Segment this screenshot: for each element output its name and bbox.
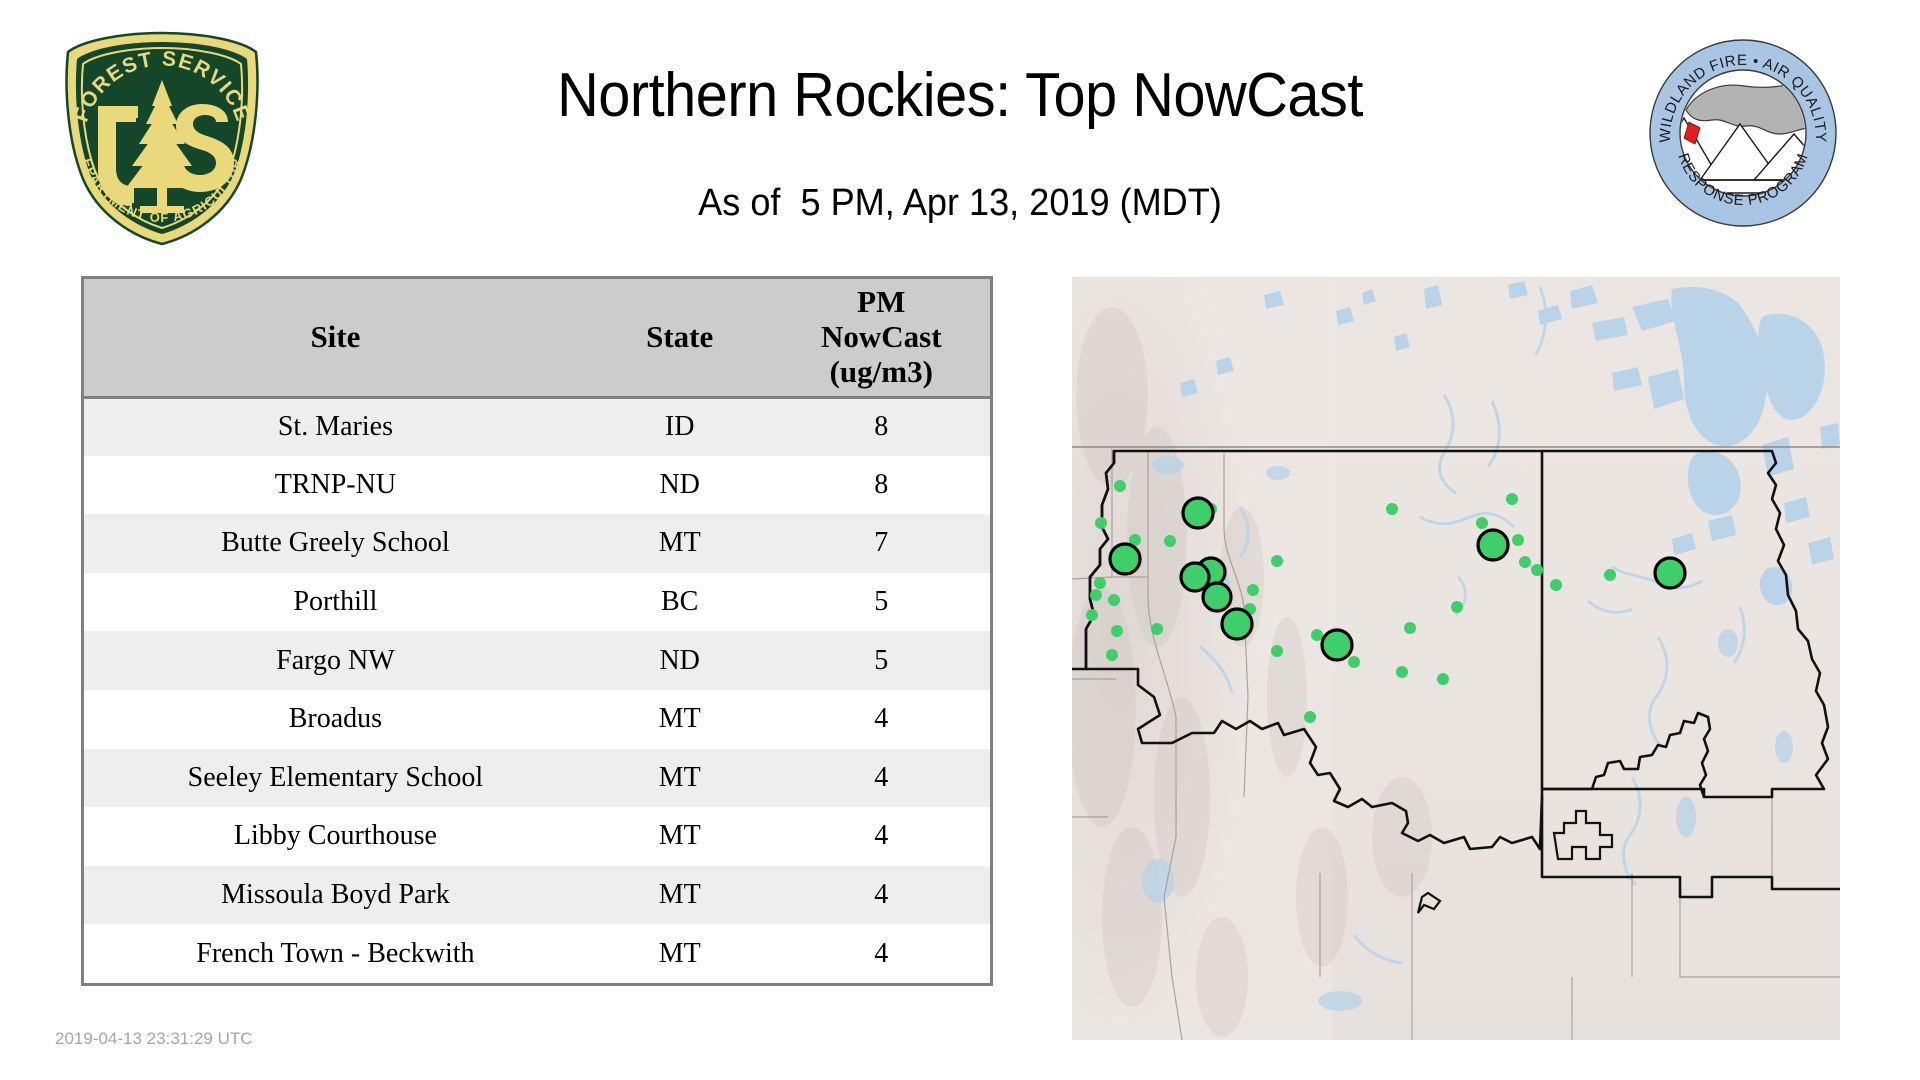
monitor-marker-small[interactable]	[1348, 656, 1360, 668]
monitor-marker-small[interactable]	[1396, 666, 1408, 678]
monitor-marker-small[interactable]	[1111, 625, 1123, 637]
table-header-row: Site State PM NowCast (ug/m3)	[84, 279, 990, 397]
monitor-marker-large[interactable]	[1203, 583, 1231, 611]
cell-state: ND	[587, 456, 773, 515]
monitor-marker-small[interactable]	[1108, 594, 1120, 606]
monitor-marker-small[interactable]	[1095, 517, 1107, 529]
pm-header-line-3: (ug/m3)	[779, 355, 984, 390]
table-row[interactable]: French Town - Beckwith MT 4	[84, 924, 990, 983]
nowcast-table-body: St. Maries ID 8 TRNP-NU ND 8 Butte Greel…	[84, 397, 990, 983]
generation-timestamp: 2019-04-13 23:31:29 UTC	[55, 1029, 253, 1049]
monitor-marker-large[interactable]	[1322, 630, 1352, 660]
monitor-marker-small[interactable]	[1164, 535, 1176, 547]
page-subtitle: As of 5 PM, Apr 13, 2019 (MDT)	[390, 182, 1530, 225]
column-header-pm-nowcast[interactable]: PM NowCast (ug/m3)	[773, 279, 990, 397]
monitor-marker-small[interactable]	[1604, 569, 1616, 581]
monitor-marker-small[interactable]	[1114, 480, 1126, 492]
monitor-marker-large[interactable]	[1181, 563, 1209, 591]
nowcast-table-container: Site State PM NowCast (ug/m3) St. Maries…	[81, 276, 993, 986]
monitor-marker-small[interactable]	[1090, 589, 1102, 601]
monitor-marker-small[interactable]	[1271, 645, 1283, 657]
cell-site: Seeley Elementary School	[84, 749, 587, 808]
cell-state: ID	[587, 397, 773, 456]
cell-pm: 4	[773, 749, 990, 808]
monitor-marker-small[interactable]	[1512, 534, 1524, 546]
cell-site: Porthill	[84, 573, 587, 632]
table-row[interactable]: Porthill BC 5	[84, 573, 990, 632]
column-header-state[interactable]: State	[587, 279, 773, 397]
table-row[interactable]: St. Maries ID 8	[84, 397, 990, 456]
monitor-marker-small[interactable]	[1531, 564, 1543, 576]
monitor-marker-large[interactable]	[1110, 544, 1140, 574]
cell-state: BC	[587, 573, 773, 632]
cell-pm: 7	[773, 514, 990, 573]
column-header-site[interactable]: Site	[84, 279, 587, 397]
cell-state: MT	[587, 690, 773, 749]
monitor-marker-small[interactable]	[1437, 673, 1449, 685]
cell-state: MT	[587, 749, 773, 808]
table-row[interactable]: TRNP-NU ND 8	[84, 456, 990, 515]
monitor-marker-small[interactable]	[1386, 503, 1398, 515]
monitor-marker-large[interactable]	[1478, 530, 1508, 560]
monitor-marker-large[interactable]	[1183, 498, 1213, 528]
cell-pm: 4	[773, 807, 990, 866]
nowcast-table: Site State PM NowCast (ug/m3) St. Maries…	[84, 279, 990, 983]
monitor-marker-small[interactable]	[1304, 711, 1316, 723]
cell-pm: 4	[773, 924, 990, 983]
monitor-marker-small[interactable]	[1311, 629, 1323, 641]
monitor-marker-small[interactable]	[1476, 517, 1488, 529]
monitor-marker-small[interactable]	[1404, 622, 1416, 634]
table-row[interactable]: Fargo NW ND 5	[84, 631, 990, 690]
cell-state: ND	[587, 631, 773, 690]
monitor-marker-small[interactable]	[1271, 555, 1283, 567]
table-row[interactable]: Broadus MT 4	[84, 690, 990, 749]
monitor-marker-small[interactable]	[1550, 579, 1562, 591]
cell-site: Fargo NW	[84, 631, 587, 690]
monitor-marker-large[interactable]	[1655, 558, 1685, 588]
cell-pm: 5	[773, 631, 990, 690]
cell-state: MT	[587, 807, 773, 866]
cell-pm: 4	[773, 690, 990, 749]
page-title: Northern Rockies: Top NowCast	[402, 60, 1518, 131]
cell-state: MT	[587, 866, 773, 925]
cell-site: French Town - Beckwith	[84, 924, 587, 983]
cell-site: St. Maries	[84, 397, 587, 456]
cell-pm: 8	[773, 456, 990, 515]
cell-state: MT	[587, 924, 773, 983]
cell-state: MT	[587, 514, 773, 573]
monitor-marker-small[interactable]	[1086, 609, 1098, 621]
monitor-marker-small[interactable]	[1247, 584, 1259, 596]
table-row[interactable]: Butte Greely School MT 7	[84, 514, 990, 573]
cell-pm: 5	[773, 573, 990, 632]
pm-header-line-1: PM	[779, 285, 984, 320]
wildland-fire-air-quality-logo: WILDLAND FIRE • AIR QUALITY RESPONSE PRO…	[1648, 38, 1838, 228]
cell-pm: 4	[773, 866, 990, 925]
cell-site: TRNP-NU	[84, 456, 587, 515]
monitor-marker-small[interactable]	[1151, 623, 1163, 635]
cell-site: Libby Courthouse	[84, 807, 587, 866]
table-row[interactable]: Libby Courthouse MT 4	[84, 807, 990, 866]
cell-site: Butte Greely School	[84, 514, 587, 573]
forest-service-logo: FOREST SERVICE DEPARTMENT OF AGRICULTURE	[52, 30, 272, 245]
monitor-marker-small[interactable]	[1519, 556, 1531, 568]
pm-header-line-2: NowCast	[779, 320, 984, 355]
cell-site: Missoula Boyd Park	[84, 866, 587, 925]
cell-site: Broadus	[84, 690, 587, 749]
monitor-marker-small[interactable]	[1451, 601, 1463, 613]
monitor-marker-small[interactable]	[1106, 649, 1118, 661]
table-row[interactable]: Missoula Boyd Park MT 4	[84, 866, 990, 925]
monitor-marker-large[interactable]	[1222, 609, 1252, 639]
table-row[interactable]: Seeley Elementary School MT 4	[84, 749, 990, 808]
cell-pm: 8	[773, 397, 990, 456]
monitor-marker-small[interactable]	[1506, 493, 1518, 505]
monitor-marker-small[interactable]	[1094, 577, 1106, 589]
map-panel[interactable]	[1072, 277, 1840, 1040]
